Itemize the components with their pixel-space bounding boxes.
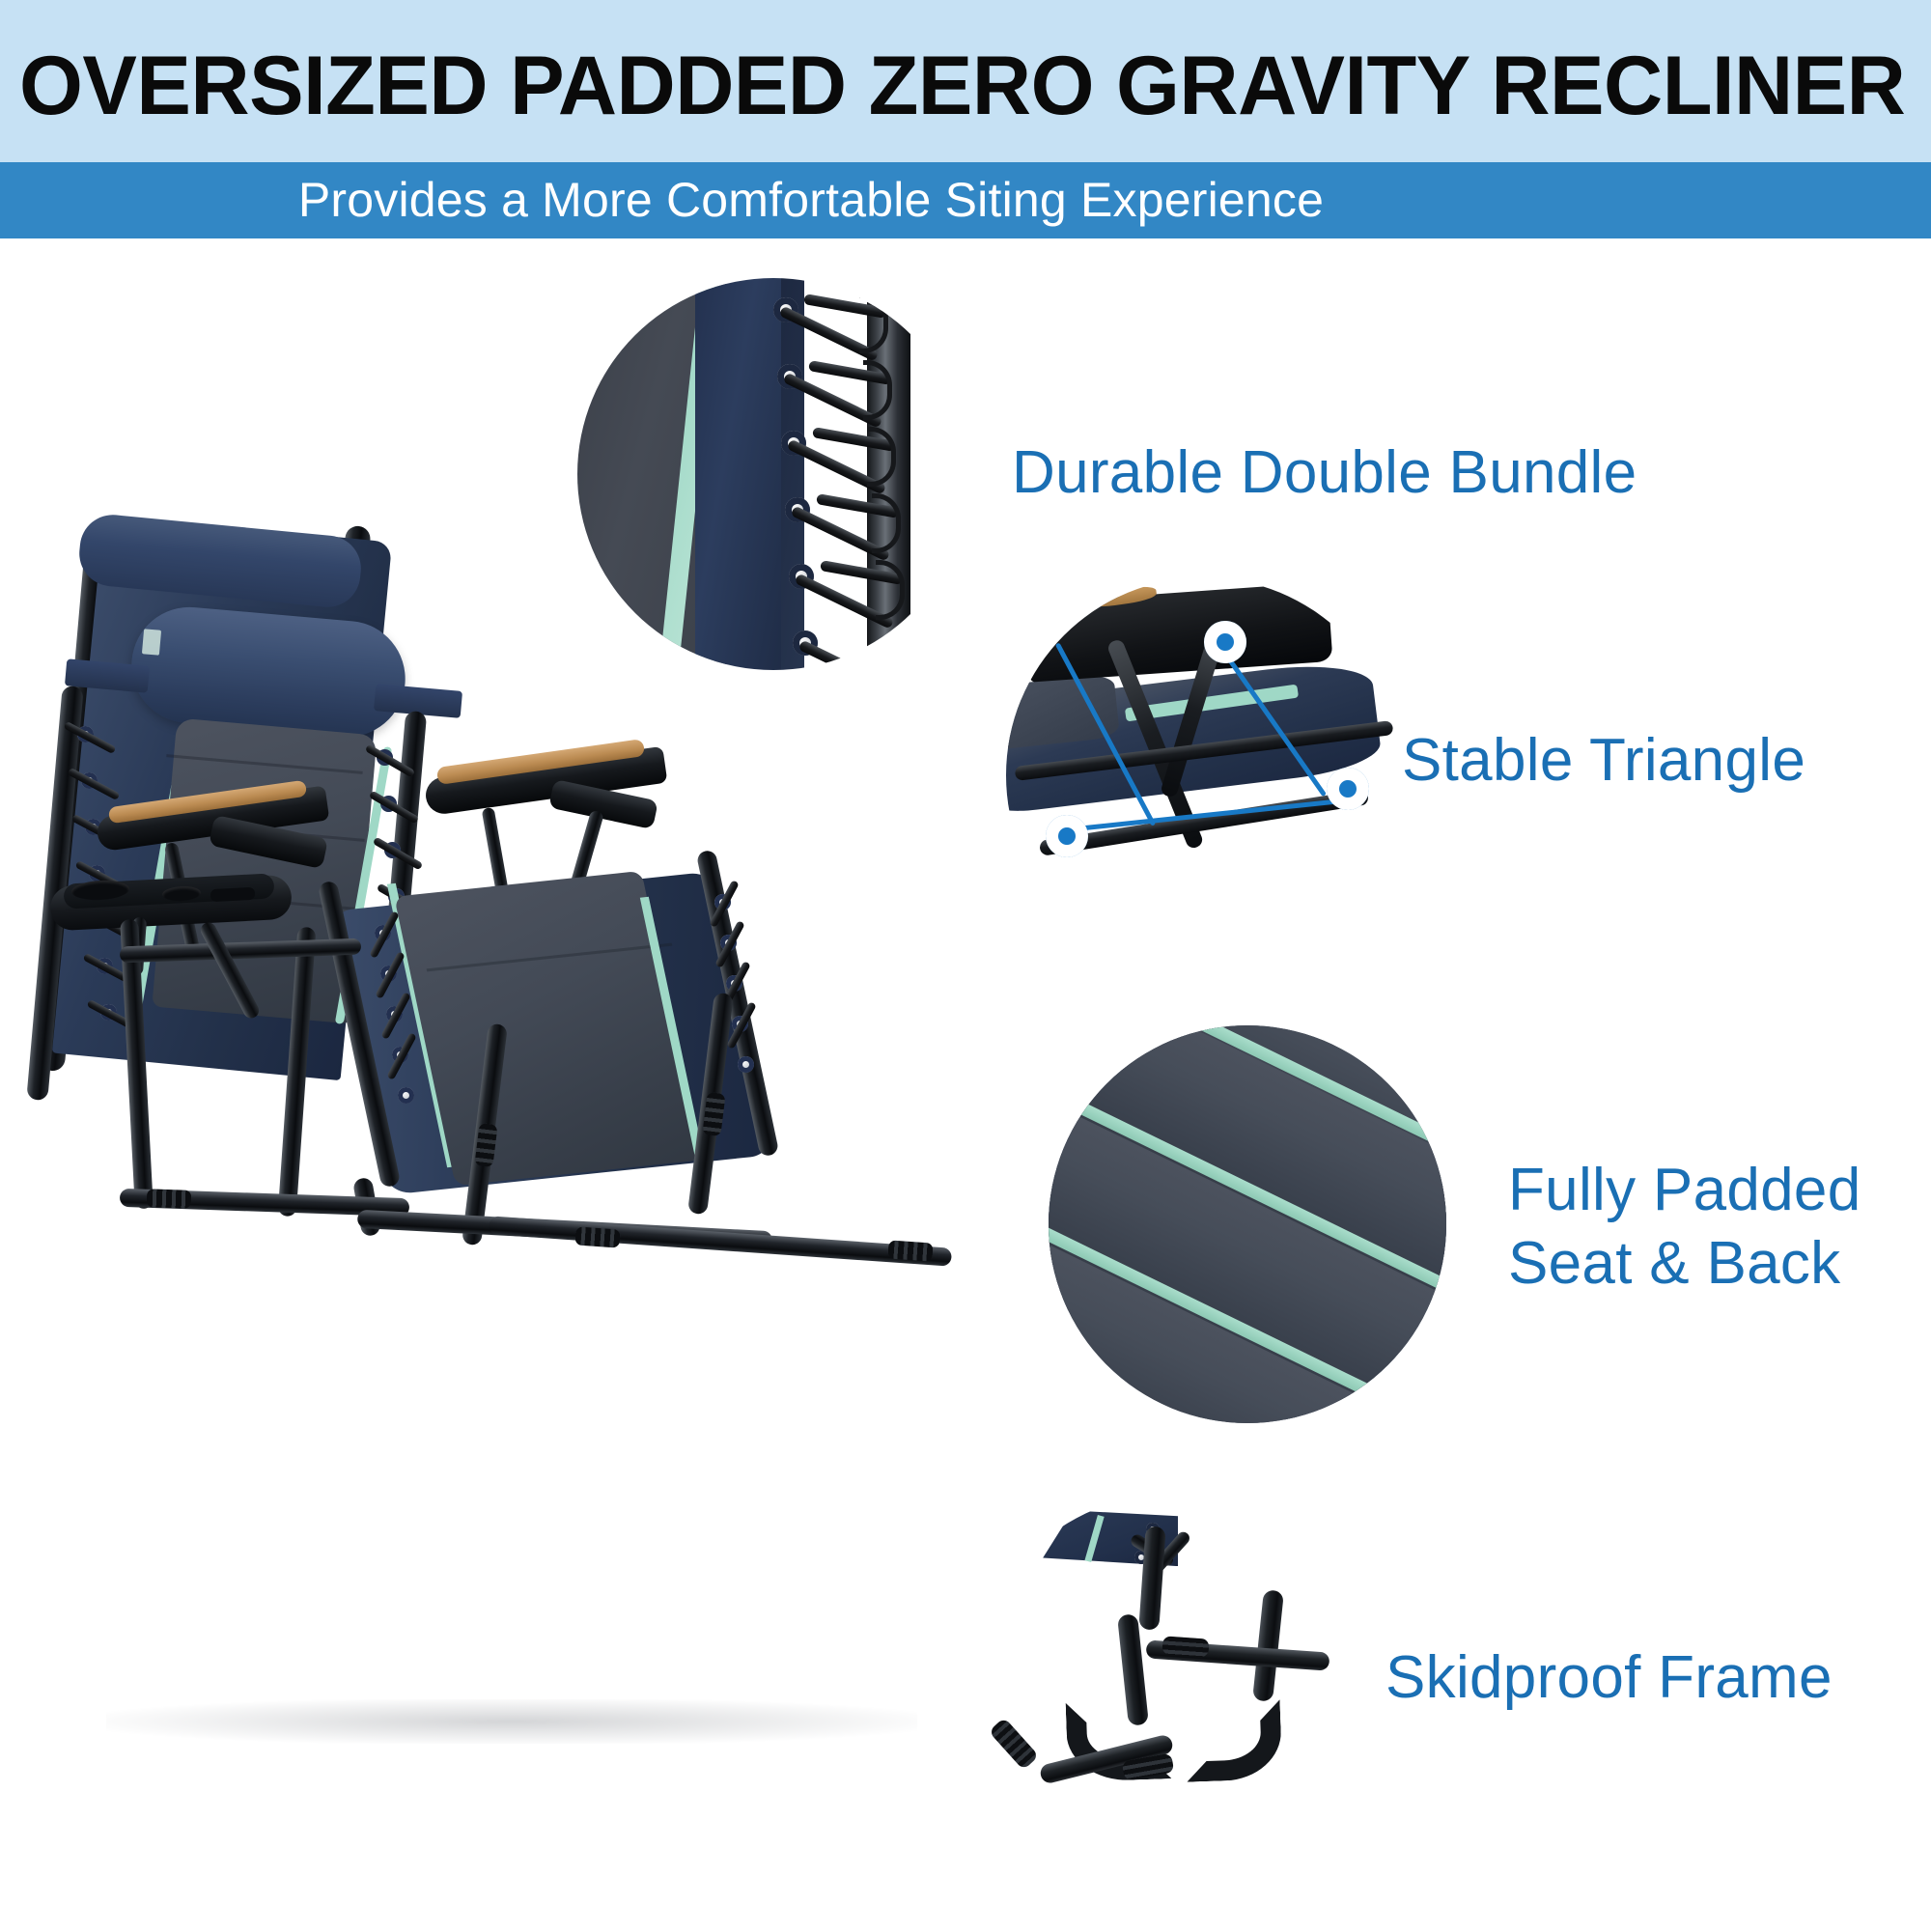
page-title: OVERSIZED PADDED ZERO GRAVITY RECLINER	[19, 44, 1884, 127]
callout-label-fully-padded: Fully Padded Seat & Back	[1508, 1154, 1861, 1301]
callout-label-line-1: Fully Padded	[1508, 1154, 1861, 1227]
tray-phone-slot	[210, 887, 256, 902]
callout-photo-frame-foot	[971, 1495, 1369, 1892]
product-photo-zero-gravity-recliner	[39, 541, 1023, 1738]
brand-tag	[142, 629, 161, 655]
callout-circle-fully-padded	[1049, 1025, 1446, 1423]
skid-foot-cap-left	[147, 1189, 192, 1209]
triangle-joint-node-left	[1046, 815, 1088, 857]
frame-cross-bar-spring	[1161, 1637, 1209, 1658]
page-subtitle: Provides a More Comfortable Siting Exper…	[0, 170, 1622, 230]
callout-label-stable-triangle: Stable Triangle	[1402, 724, 1805, 798]
callout-label-line-2: Seat & Back	[1508, 1227, 1861, 1301]
callout-photo-triangle-brace	[1006, 577, 1402, 973]
triangle-joint-node-right	[1327, 768, 1369, 810]
callout-photo-quilted-padding	[1049, 1025, 1446, 1423]
callout-circle-durable-double-bundle	[577, 278, 969, 670]
callout-circle-skidproof-frame	[971, 1495, 1369, 1892]
triangle-joint-node-top	[1204, 621, 1246, 663]
callout-label-skidproof-frame: Skidproof Frame	[1385, 1641, 1833, 1715]
callout-circle-stable-triangle	[1006, 577, 1402, 973]
callout-photo-bungee-lacing	[577, 278, 969, 670]
callout-label-durable-double-bundle: Durable Double Bundle	[1012, 436, 1637, 510]
frame-bottom-rail-right	[489, 1216, 952, 1266]
skid-foot-cap-center	[574, 1226, 620, 1247]
skid-foot-cap-right	[887, 1240, 933, 1261]
